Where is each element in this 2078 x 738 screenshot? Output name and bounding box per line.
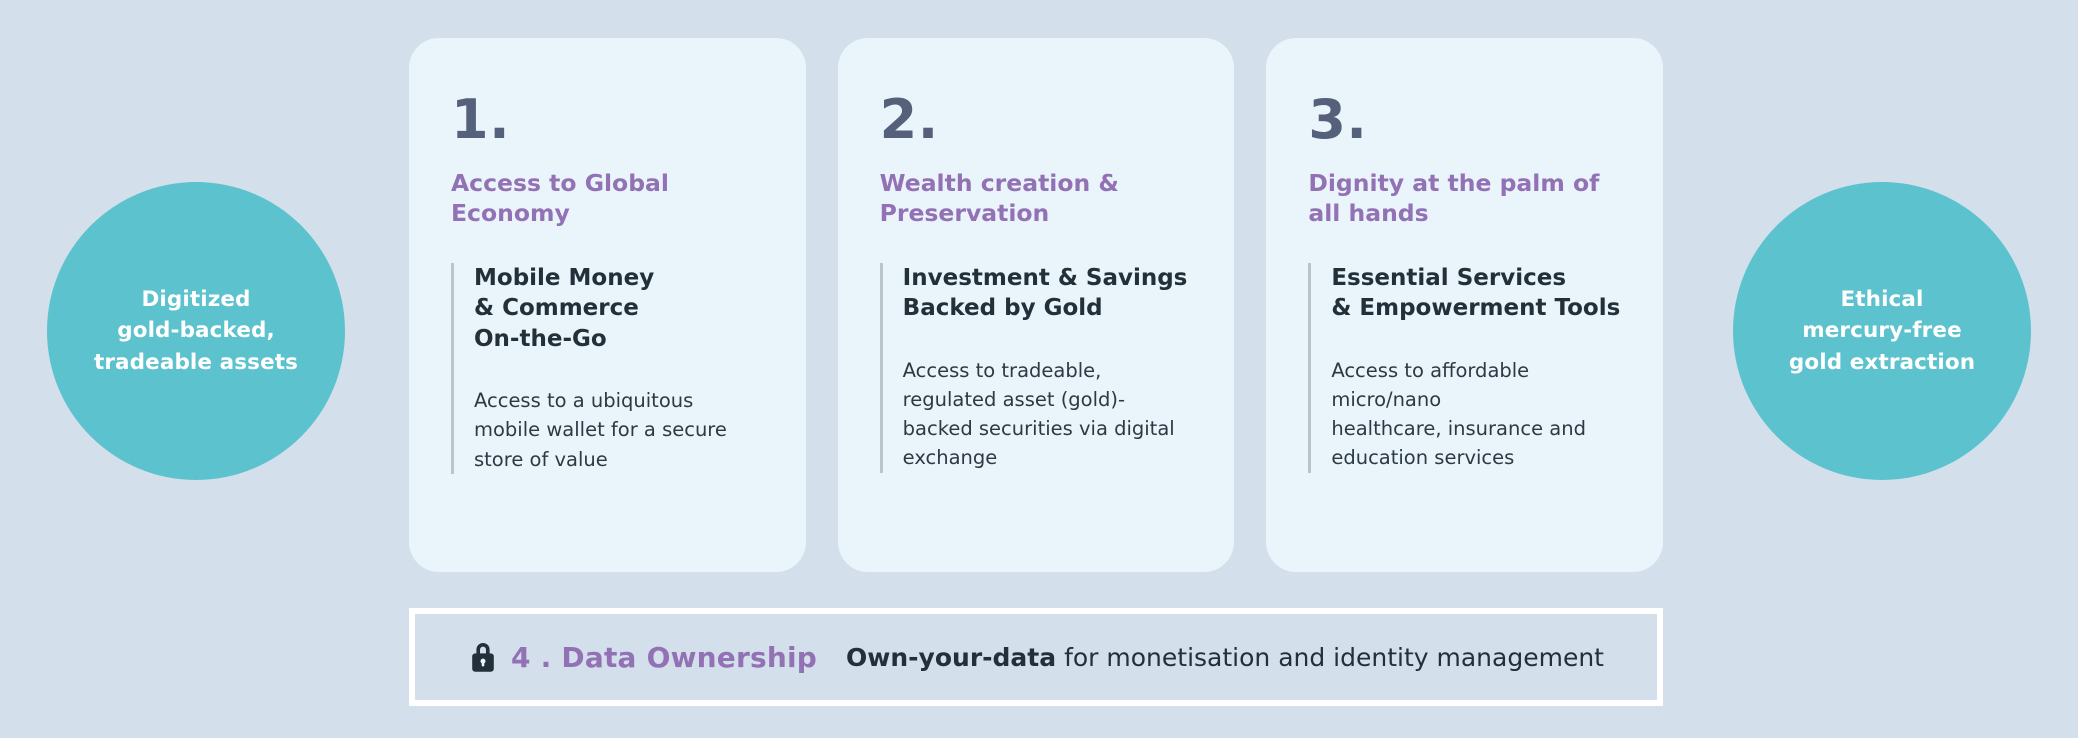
right-circle-text: Ethical mercury-free gold extraction <box>1771 284 1993 378</box>
card-2-body: Investment & Savings Backed by Gold Acce… <box>880 263 1193 473</box>
card-2-number: 2. <box>880 94 1193 145</box>
banner-bold-text: Own-your-data <box>846 643 1056 672</box>
banner-description: Own-your-data for monetisation and ident… <box>846 643 1604 672</box>
data-ownership-banner: 4 . Data Ownership Own-your-data for mon… <box>409 608 1663 706</box>
infographic-canvas: Digitized gold-backed, tradeable assets … <box>0 0 2078 738</box>
banner-rest-text: for monetisation and identity management <box>1056 643 1604 672</box>
banner-number-label: 4 . Data Ownership <box>511 641 817 674</box>
card-1: 1. Access to Global Economy Mobile Money… <box>409 38 806 572</box>
card-3-description: Access to affordable micro/nano healthca… <box>1331 356 1621 473</box>
card-3-number: 3. <box>1308 94 1621 145</box>
card-2-subtitle: Investment & Savings Backed by Gold <box>903 263 1193 324</box>
card-1-number: 1. <box>451 94 764 145</box>
right-circle-badge: Ethical mercury-free gold extraction <box>1733 182 2031 480</box>
card-1-description: Access to a ubiquitous mobile wallet for… <box>474 386 764 474</box>
card-2-heading: Wealth creation & Preservation <box>880 169 1193 229</box>
left-circle-badge: Digitized gold-backed, tradeable assets <box>47 182 345 480</box>
card-1-heading: Access to Global Economy <box>451 169 764 229</box>
card-3-subtitle: Essential Services & Empowerment Tools <box>1331 263 1621 324</box>
lock-icon <box>468 640 498 674</box>
card-2-description: Access to tradeable, regulated asset (go… <box>903 356 1193 473</box>
card-3: 3. Dignity at the palm of all hands Esse… <box>1266 38 1663 572</box>
cards-row: 1. Access to Global Economy Mobile Money… <box>409 38 1663 572</box>
card-3-heading: Dignity at the palm of all hands <box>1308 169 1621 229</box>
card-2: 2. Wealth creation & Preservation Invest… <box>838 38 1235 572</box>
card-3-body: Essential Services & Empowerment Tools A… <box>1308 263 1621 473</box>
card-1-subtitle: Mobile Money & Commerce On-the-Go <box>474 263 764 354</box>
card-1-body: Mobile Money & Commerce On-the-Go Access… <box>451 263 764 474</box>
left-circle-text: Digitized gold-backed, tradeable assets <box>76 284 316 378</box>
